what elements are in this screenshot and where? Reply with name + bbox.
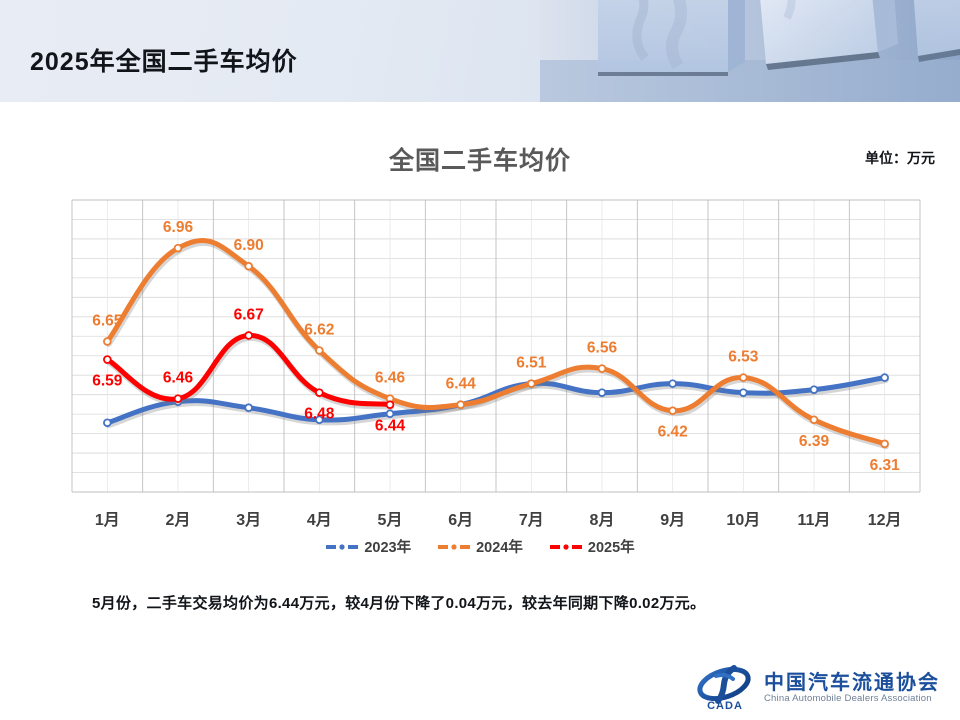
data-label: 6.53: [728, 349, 759, 366]
chart-caption: 5月份，二手车交易均价为6.44万元，较4月份下降了0.04万元，较去年同期下降…: [92, 592, 705, 613]
org-name-cn: 中国汽车流通协会: [764, 673, 940, 694]
data-label: 6.56: [587, 340, 618, 357]
chart-title: 全国二手车均价: [0, 141, 960, 177]
legend-swatch: [325, 541, 359, 553]
x-axis-tick-label: 12月: [868, 511, 902, 529]
data-label: 6.46: [375, 370, 406, 387]
data-label: 6.42: [658, 424, 688, 441]
legend-swatch: [549, 541, 583, 553]
logo-text-block: 中国汽车流通协会 China Automobile Dealers Associ…: [764, 673, 940, 704]
data-label: 6.65: [92, 312, 123, 329]
line-chart: 6.656.966.906.626.466.446.516.566.426.53…: [0, 190, 960, 570]
glass-cubes-world-map-graphic: [540, 0, 960, 102]
data-label: 6.51: [516, 355, 547, 372]
x-axis-tick-label: 6月: [448, 511, 473, 529]
data-label: 6.31: [870, 457, 901, 474]
data-label: 6.44: [375, 418, 406, 435]
data-label: 6.39: [799, 433, 830, 450]
data-label: 6.67: [234, 306, 264, 323]
x-axis-tick-label: 1月: [95, 511, 120, 529]
x-axis-tick-label: 8月: [590, 511, 615, 529]
x-axis-tick-label: 5月: [378, 511, 403, 529]
org-name-en: China Automobile Dealers Association: [764, 694, 940, 704]
data-label: 6.48: [304, 406, 335, 423]
data-label: 6.59: [92, 373, 123, 390]
data-label: 6.62: [304, 322, 334, 339]
x-axis-tick-label: 9月: [660, 511, 685, 529]
x-axis-tick-label: 7月: [519, 511, 544, 529]
x-axis-tick-label: 4月: [307, 511, 332, 529]
data-label: 6.46: [163, 370, 194, 387]
cada-logo: CADA 中国汽车流通协会 China Automobile Dealers A…: [694, 664, 940, 712]
legend-swatch: [437, 541, 471, 553]
legend-item-2023年[interactable]: 2023年: [325, 536, 411, 557]
data-label: 6.90: [234, 237, 264, 254]
page-title: 2025年全国二手车均价: [30, 42, 298, 78]
page-header: 2025年全国二手车均价: [0, 0, 960, 102]
legend-label: 2023年: [364, 536, 411, 557]
cada-acronym: CADA: [707, 700, 743, 712]
x-axis-tick-label: 3月: [236, 511, 261, 529]
legend-label: 2025年: [588, 536, 635, 557]
legend-label: 2024年: [476, 536, 523, 557]
data-label: 6.44: [446, 376, 477, 393]
x-axis-labels: 1月2月3月4月5月6月7月8月9月10月11月12月: [95, 511, 902, 529]
cada-swirl-emblem: CADA: [694, 664, 756, 712]
legend-item-2024年[interactable]: 2024年: [437, 536, 523, 557]
x-axis-tick-label: 11月: [798, 511, 831, 529]
data-label: 6.96: [163, 219, 194, 236]
legend-item-2025年[interactable]: 2025年: [549, 536, 635, 557]
x-axis-tick-label: 10月: [726, 511, 760, 529]
chart-legend: 2023年2024年2025年: [0, 536, 960, 557]
chart-unit-label: 单位：万元: [865, 148, 935, 168]
x-axis-tick-label: 2月: [166, 511, 191, 529]
